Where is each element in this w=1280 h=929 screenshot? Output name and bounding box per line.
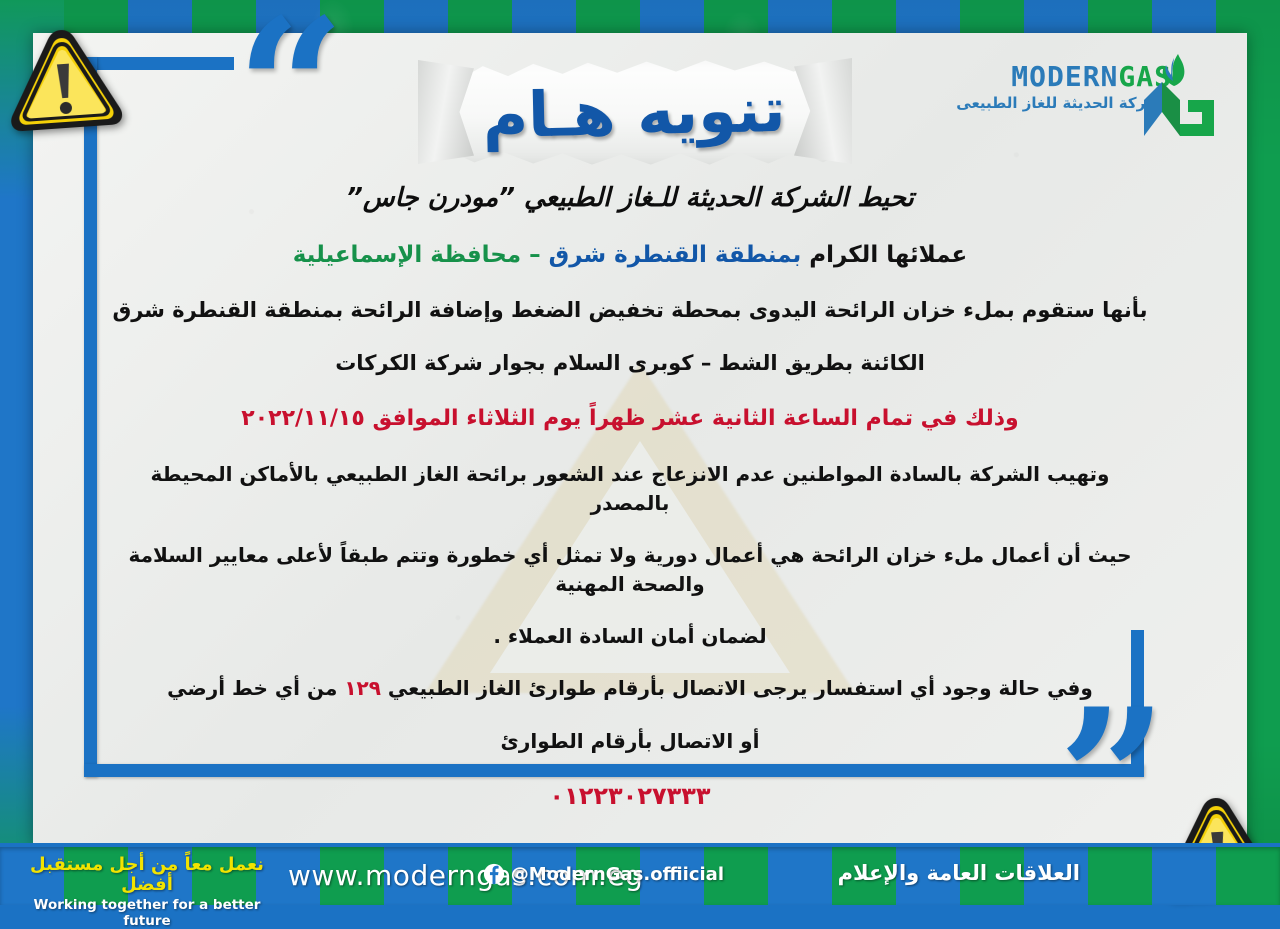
facebook-handle: @ModernGas.offiicial <box>511 864 724 885</box>
contact-prefix: وفي حالة وجود أي استفسار يرجى الاتصال بأ… <box>381 676 1093 700</box>
subtitle-part-governorate: – محافظة الإسماعيلية <box>293 242 541 268</box>
title-banner: تنويه هـام <box>424 56 844 168</box>
frame-left-bar <box>84 57 97 777</box>
footer-slogan-arabic: نعمل معاً من أجل مستقبل أفضل <box>22 855 272 895</box>
warning-triangle-icon-top-left <box>0 20 128 140</box>
paragraph2-line1: وتهيب الشركة بالسادة المواطنين عدم الانز… <box>110 460 1150 517</box>
brand-logo: MODERNGAS الشركة الحديثة للغاز الطبيعى <box>990 50 1212 142</box>
notice-date-line: وذلك في تمام الساعة الثانية عشر ظهراً يو… <box>110 403 1150 434</box>
footer-slogan-english: Working together for a better future <box>22 897 272 929</box>
paragraph1-line2: الكائنة بطريق الشط – كوبرى السلام بجوار … <box>110 349 1150 379</box>
subtitle-part-area: بمنطقة القنطرة شرق <box>541 242 802 268</box>
paragraph2-line2: حيث أن أعمال ملء خزان الرائحة هي أعمال د… <box>110 541 1150 598</box>
footer-department: العلاقات العامة والإعلام <box>838 861 1080 885</box>
logo-word-modern: MODERN <box>1011 60 1118 93</box>
page-title: تنويه هـام <box>423 52 845 173</box>
body-subtitle: عملائها الكرام بمنطقة القنطرة شرق – محاف… <box>110 239 1150 272</box>
subtitle-part-customers: عملائها الكرام <box>801 242 967 268</box>
contact-line: وفي حالة وجود أي استفسار يرجى الاتصال بأ… <box>110 674 1150 702</box>
emergency-hotline-number: ١٢٩ <box>344 676 381 700</box>
emergency-phone-number: ٠١٢٢٣٠٢٧٣٣٣ <box>110 779 1150 813</box>
facebook-icon <box>483 863 505 885</box>
paragraph2-line3: لضمان أمان السادة العملاء . <box>110 622 1150 650</box>
footer-bar: نعمل معاً من أجل مستقبل أفضل Working tog… <box>0 847 1280 905</box>
contact-alt-line: أو الاتصال بأرقام الطوارئ <box>110 727 1150 755</box>
body-headline: تحيط الشركة الحديثة للـغاز الطبيعي ”مودر… <box>110 180 1150 217</box>
paragraph1-line1: بأنها ستقوم بملء خزان الرائحة اليدوى بمح… <box>110 296 1150 326</box>
notice-body: تحيط الشركة الحديثة للـغاز الطبيعي ”مودر… <box>110 180 1150 829</box>
contact-suffix: من أي خط أرضي <box>167 676 344 700</box>
footer-facebook[interactable]: @ModernGas.offiicial <box>483 863 724 885</box>
logo-flame-g-icon <box>1140 52 1218 138</box>
footer-slogan: نعمل معاً من أجل مستقبل أفضل Working tog… <box>22 855 272 929</box>
quote-open-icon: “ <box>236 22 341 155</box>
